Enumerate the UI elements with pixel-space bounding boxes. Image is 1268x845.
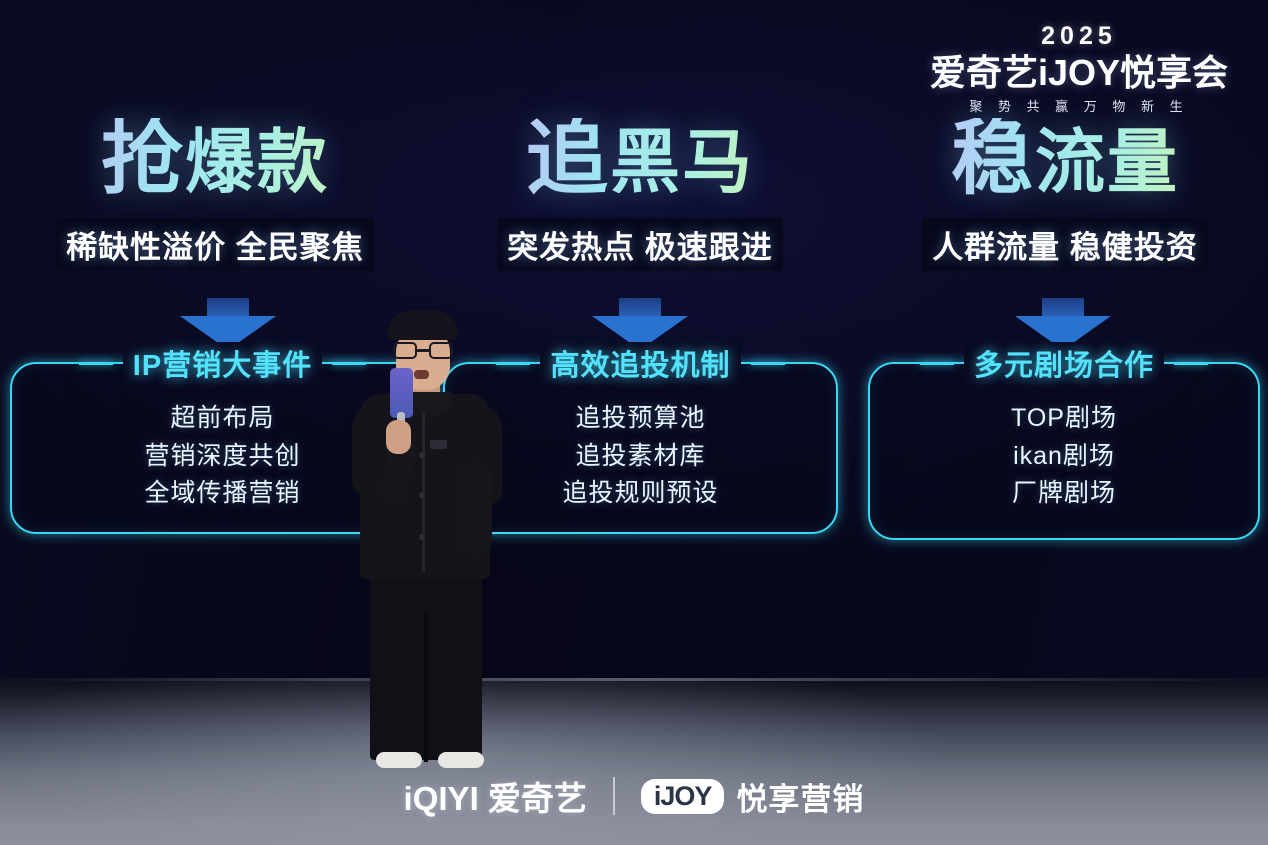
- column-2: 追黑马 突发热点 极速跟进: [440, 118, 840, 271]
- speaker-shoe-right: [438, 752, 484, 768]
- headline-1: 抢爆款: [0, 118, 430, 200]
- headline-1-big: 抢: [101, 113, 185, 204]
- list-item: 厂牌剧场: [870, 475, 1258, 513]
- speaker-shoe-left: [376, 752, 422, 768]
- list-item: ikan剧场: [870, 438, 1258, 476]
- arrow-head: [1015, 316, 1111, 350]
- stage-edge-line: [0, 678, 1268, 681]
- speaker-shirt-pocket: [430, 440, 447, 449]
- arrow-down-icon: [1015, 298, 1111, 350]
- ijoy-badge: iJOY: [641, 779, 725, 814]
- speaker-arm-right: [458, 462, 492, 554]
- dash-left: [920, 362, 954, 365]
- brand-bar: iQIYI 爱奇艺 iJOY 悦享营销: [0, 770, 1268, 822]
- event-logo-lockup: 2025 爱奇艺iJOY悦享会 聚 势 共 赢 万 物 新 生: [930, 24, 1228, 113]
- dash-right: [751, 362, 785, 365]
- card-item-list: TOP剧场 ikan剧场 厂牌剧场: [870, 400, 1258, 513]
- speaker-mouth: [414, 370, 429, 379]
- list-item: TOP剧场: [870, 400, 1258, 438]
- ijoy-label: 悦享营销: [736, 774, 864, 819]
- event-title: 爱奇艺iJOY悦享会: [930, 55, 1228, 91]
- arrow-down-icon: [180, 298, 276, 350]
- glasses-lens-left: [393, 342, 417, 359]
- subline-3: 人群流量 稳健投资: [922, 218, 1208, 271]
- headline-2-small: 黑马: [610, 123, 754, 201]
- headline-columns: 抢爆款 稀缺性溢价 全民聚焦 追黑马 突发热点 极速跟进 稳流量 人群流量 稳健…: [0, 118, 1268, 318]
- subline-2: 突发热点 极速跟进: [497, 218, 783, 271]
- arrow-down-icon: [592, 298, 688, 350]
- speaker-shirt-button: [419, 534, 425, 540]
- dash-left: [79, 362, 113, 365]
- headline-3-small: 流量: [1035, 123, 1179, 201]
- arrow-head: [180, 316, 276, 350]
- arrow-head: [592, 316, 688, 350]
- headline-2: 追黑马: [440, 118, 840, 200]
- dash-right: [1174, 362, 1208, 365]
- speaker-shirt-button: [419, 452, 425, 458]
- headline-2-big: 追: [526, 113, 610, 204]
- brand-divider: [613, 777, 615, 815]
- glasses-lens-right: [429, 342, 453, 359]
- column-1: 抢爆款 稀缺性溢价 全民聚焦: [0, 118, 430, 271]
- arrow-shaft: [207, 298, 249, 318]
- iqiyi-logo: iQIYI 爱奇艺: [404, 772, 587, 820]
- ijoy-logo: iJOY 悦享营销: [641, 774, 865, 819]
- card-theater-cooperation: 多元剧场合作 TOP剧场 ikan剧场 厂牌剧场: [868, 362, 1260, 540]
- event-tagline: 聚 势 共 赢 万 物 新 生: [930, 100, 1228, 113]
- speaker-person: [330, 312, 520, 782]
- subline-1: 稀缺性溢价 全民聚焦: [56, 218, 374, 271]
- microphone-icon: [390, 368, 413, 418]
- arrow-shaft: [1042, 298, 1084, 318]
- glasses-bridge: [417, 349, 429, 352]
- speaker-shirt-button: [419, 492, 425, 498]
- headline-3: 稳流量: [865, 118, 1265, 200]
- headline-3-big: 稳: [951, 113, 1035, 204]
- speaker-leg-split: [424, 612, 428, 762]
- column-3: 稳流量 人群流量 稳健投资: [865, 118, 1265, 271]
- headline-1-small: 爆款: [185, 123, 329, 201]
- arrow-shaft: [619, 298, 661, 318]
- speaker-hair: [388, 310, 458, 340]
- presentation-slide-screenshot: 2025 爱奇艺iJOY悦享会 聚 势 共 赢 万 物 新 生 抢爆款 稀缺性溢…: [0, 0, 1268, 845]
- event-year: 2025: [930, 24, 1228, 49]
- speaker-hand-left: [386, 420, 411, 454]
